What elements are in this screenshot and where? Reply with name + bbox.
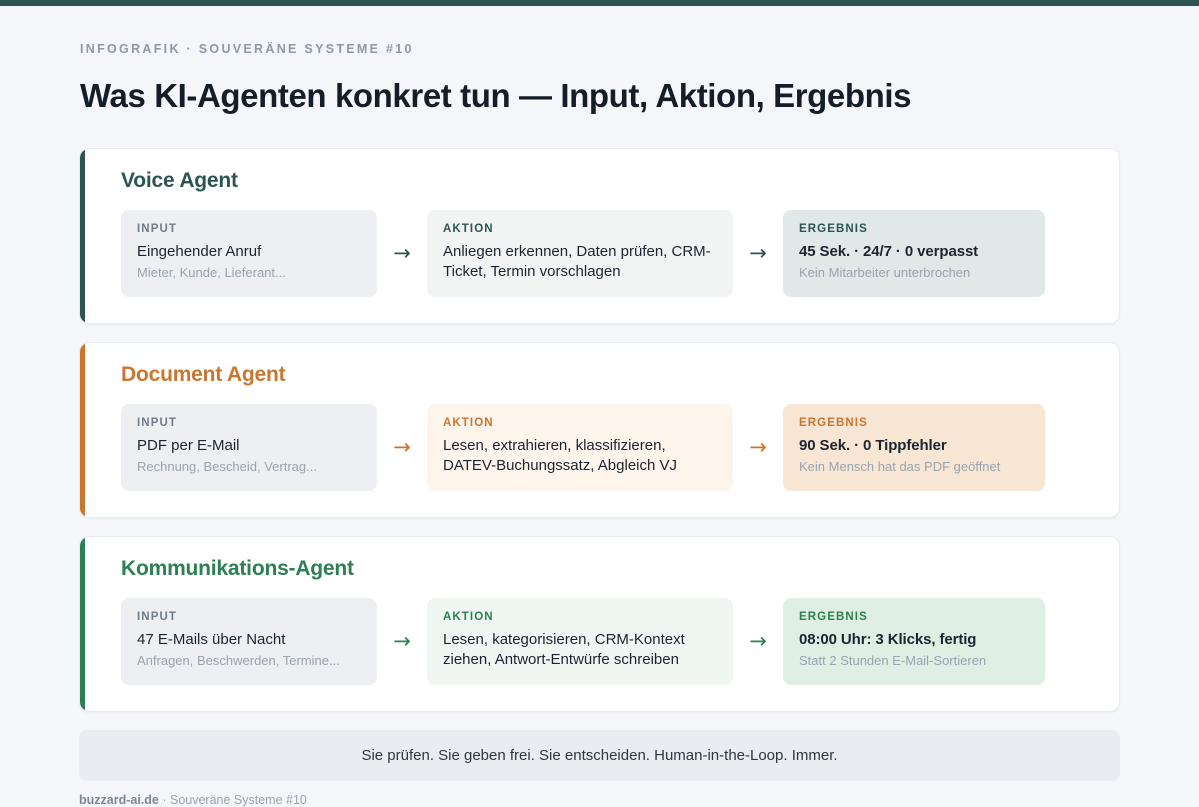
result-panel: ERGEBNIS90 Sek. · 0 TippfehlerKein Mensc… bbox=[783, 404, 1045, 491]
input-main-text: 47 E-Mails über Nacht bbox=[137, 630, 361, 650]
action-main-text: Lesen, kategorisieren, CRM-Kontext ziehe… bbox=[443, 630, 717, 670]
result-label: ERGEBNIS bbox=[799, 611, 1029, 623]
card-title: Kommunikations-Agent bbox=[121, 557, 1095, 581]
result-main-text: 45 Sek. · 24/7 · 0 verpasst bbox=[799, 242, 1029, 262]
flow-arrow-icon: → bbox=[377, 243, 427, 264]
flow-row: INPUT47 E-Mails über NachtAnfragen, Besc… bbox=[121, 598, 1095, 685]
result-panel: ERGEBNIS08:00 Uhr: 3 Klicks, fertigStatt… bbox=[783, 598, 1045, 685]
flow-arrow-icon: → bbox=[733, 437, 783, 458]
input-panel: INPUTEingehender AnrufMieter, Kunde, Lie… bbox=[121, 210, 377, 297]
agent-card: Voice AgentINPUTEingehender AnrufMieter,… bbox=[79, 148, 1120, 324]
input-panel: INPUTPDF per E-MailRechnung, Bescheid, V… bbox=[121, 404, 377, 491]
flow-arrow-icon: → bbox=[377, 631, 427, 652]
agent-card: Document AgentINPUTPDF per E-MailRechnun… bbox=[79, 342, 1120, 518]
action-panel: AKTIONLesen, kategorisieren, CRM-Kontext… bbox=[427, 598, 733, 685]
input-main-text: Eingehender Anruf bbox=[137, 242, 361, 262]
credit-site: buzzard-ai.de bbox=[79, 793, 159, 807]
card-accent-bar bbox=[80, 343, 85, 517]
result-sub-text: Kein Mitarbeiter unterbrochen bbox=[799, 265, 1029, 282]
result-main-text: 08:00 Uhr: 3 Klicks, fertig bbox=[799, 630, 1029, 650]
input-label: INPUT bbox=[137, 417, 361, 429]
input-label: INPUT bbox=[137, 611, 361, 623]
eyebrow-label: INFOGRAFIK · SOUVERÄNE SYSTEME #10 bbox=[80, 42, 1119, 56]
action-panel: AKTIONLesen, extrahieren, klassifizieren… bbox=[427, 404, 733, 491]
footer-credit: buzzard-ai.de · Souveräne Systeme #10 bbox=[79, 793, 1120, 807]
input-label: INPUT bbox=[137, 223, 361, 235]
credit-rest: · Souveräne Systeme #10 bbox=[159, 793, 307, 807]
card-accent-bar bbox=[80, 149, 85, 323]
flow-row: INPUTPDF per E-MailRechnung, Bescheid, V… bbox=[121, 404, 1095, 491]
infographic-page: INFOGRAFIK · SOUVERÄNE SYSTEME #10 Was K… bbox=[0, 6, 1199, 807]
action-panel: AKTIONAnliegen erkennen, Daten prüfen, C… bbox=[427, 210, 733, 297]
agent-card-list: Voice AgentINPUTEingehender AnrufMieter,… bbox=[0, 148, 1199, 712]
input-panel: INPUT47 E-Mails über NachtAnfragen, Besc… bbox=[121, 598, 377, 685]
input-sub-text: Mieter, Kunde, Lieferant... bbox=[137, 265, 361, 282]
agent-card: Kommunikations-AgentINPUT47 E-Mails über… bbox=[79, 536, 1120, 712]
page-header: INFOGRAFIK · SOUVERÄNE SYSTEME #10 Was K… bbox=[0, 6, 1199, 115]
result-sub-text: Statt 2 Stunden E-Mail-Sortieren bbox=[799, 653, 1029, 670]
card-title: Voice Agent bbox=[121, 169, 1095, 193]
card-title: Document Agent bbox=[121, 363, 1095, 387]
action-main-text: Lesen, extrahieren, klassifizieren, DATE… bbox=[443, 436, 717, 476]
result-main-text: 90 Sek. · 0 Tippfehler bbox=[799, 436, 1029, 456]
flow-arrow-icon: → bbox=[377, 437, 427, 458]
result-sub-text: Kein Mensch hat das PDF geöffnet bbox=[799, 459, 1029, 476]
action-label: AKTION bbox=[443, 417, 717, 429]
page-title: Was KI-Agenten konkret tun — Input, Akti… bbox=[80, 78, 1119, 115]
flow-arrow-icon: → bbox=[733, 243, 783, 264]
input-sub-text: Anfragen, Beschwerden, Termine... bbox=[137, 653, 361, 670]
human-in-the-loop-note: Sie prüfen. Sie geben frei. Sie entschei… bbox=[79, 730, 1120, 781]
input-main-text: PDF per E-Mail bbox=[137, 436, 361, 456]
action-main-text: Anliegen erkennen, Daten prüfen, CRM-Tic… bbox=[443, 242, 717, 282]
result-label: ERGEBNIS bbox=[799, 223, 1029, 235]
input-sub-text: Rechnung, Bescheid, Vertrag... bbox=[137, 459, 361, 476]
card-accent-bar bbox=[80, 537, 85, 711]
flow-row: INPUTEingehender AnrufMieter, Kunde, Lie… bbox=[121, 210, 1095, 297]
flow-arrow-icon: → bbox=[733, 631, 783, 652]
result-panel: ERGEBNIS45 Sek. · 24/7 · 0 verpasstKein … bbox=[783, 210, 1045, 297]
action-label: AKTION bbox=[443, 223, 717, 235]
action-label: AKTION bbox=[443, 611, 717, 623]
result-label: ERGEBNIS bbox=[799, 417, 1029, 429]
